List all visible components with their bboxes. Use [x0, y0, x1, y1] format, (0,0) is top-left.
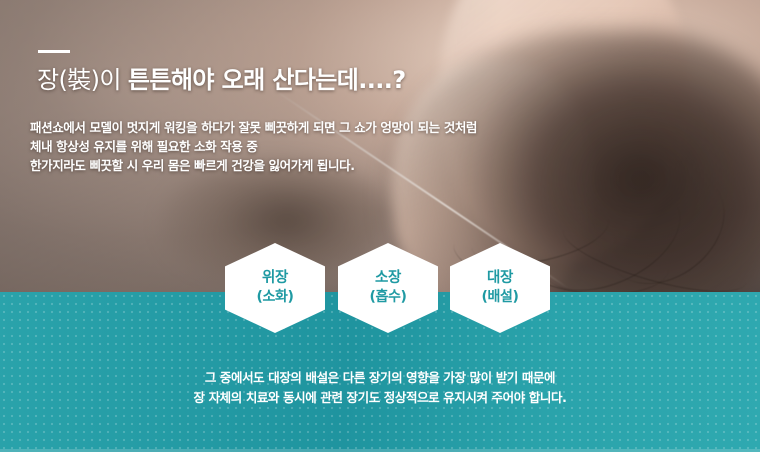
organ-name: 소장	[375, 270, 401, 288]
accent-dash	[38, 50, 70, 53]
organ-badge-large-intestine[interactable]: 대장 (배설)	[450, 243, 550, 333]
banner-body-copy: 패션쇼에서 모델이 멋지게 워킹을 하다가 잘못 삐끗하게 되면 그 쇼가 엉망…	[30, 118, 477, 175]
organ-badge-stomach[interactable]: 위장 (소화)	[225, 243, 325, 333]
organ-function: (소화)	[257, 289, 294, 306]
footer-line-2: 장 자체의 치료와 동시에 관련 장기도 정상적으로 유지시켜 주어야 합니다.	[0, 388, 760, 408]
body-line-3: 한가지라도 삐끗할 시 우리 몸은 빠르게 건강을 잃어가게 됩니다.	[30, 156, 477, 175]
title-bold-part: 튼튼해야 오래 산다는데....?	[128, 66, 406, 94]
organ-name: 위장	[262, 270, 288, 288]
title-light-part: 장(裝)이	[37, 66, 128, 94]
footer-copy: 그 중에서도 대장의 배설은 다른 장기의 영향을 가장 많이 받기 때문에 장…	[0, 368, 760, 408]
body-line-1: 패션쇼에서 모델이 멋지게 워킹을 하다가 잘못 삐끗하게 되면 그 쇼가 엉망…	[30, 118, 477, 137]
organ-badge-row: 위장 (소화) 소장 (흡수) 대장 (배설)	[225, 243, 555, 335]
body-line-2: 체내 항상성 유지를 위해 필요한 소화 작용 중	[30, 137, 477, 156]
organ-badge-small-intestine[interactable]: 소장 (흡수)	[338, 243, 438, 333]
organ-function: (흡수)	[370, 289, 407, 306]
promo-banner: 장(裝)이 튼튼해야 오래 산다는데....? 패션쇼에서 모델이 멋지게 워킹…	[0, 0, 760, 452]
page-title: 장(裝)이 튼튼해야 오래 산다는데....?	[37, 60, 406, 95]
organ-name: 대장	[487, 270, 513, 288]
organ-function: (배설)	[482, 289, 519, 306]
footer-line-1: 그 중에서도 대장의 배설은 다른 장기의 영향을 가장 많이 받기 때문에	[0, 368, 760, 388]
